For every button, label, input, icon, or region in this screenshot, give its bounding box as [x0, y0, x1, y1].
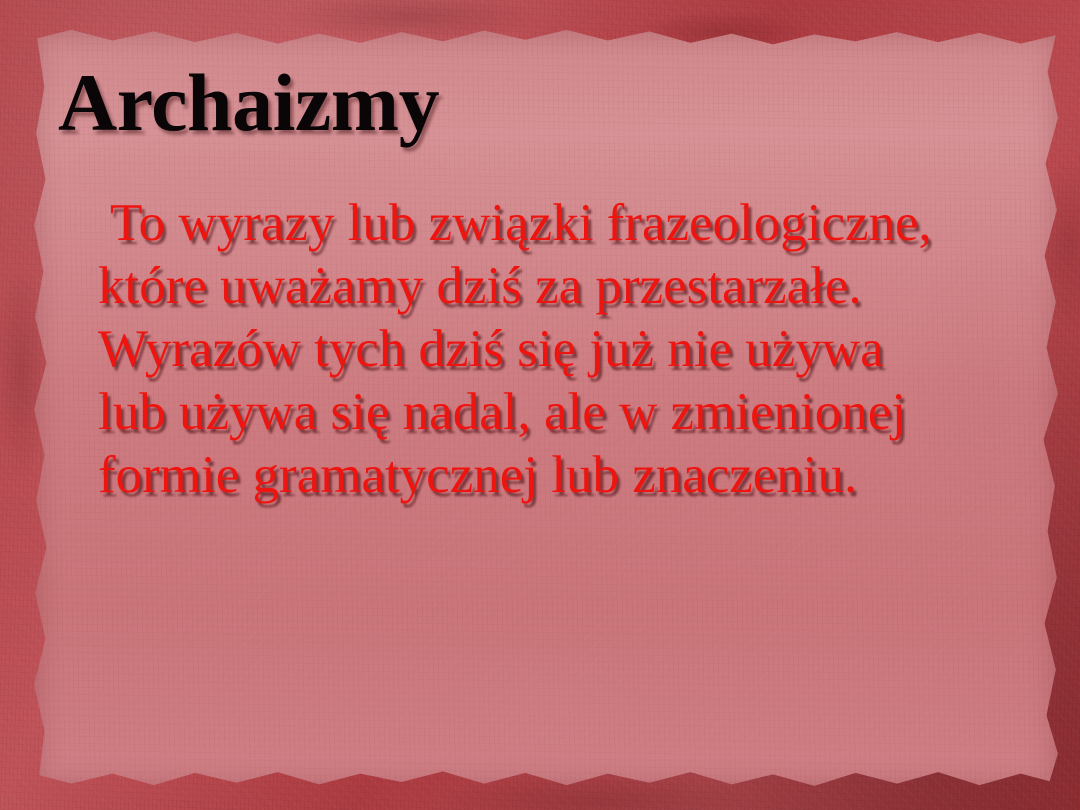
body-line-3: Wyrazów tych dziś się już nie używa [98, 318, 1028, 381]
body-line-4: lub używa się nadal, ale w zmienionej [98, 381, 1028, 444]
slide-content: Archaizmy To wyrazy lub związki frazeolo… [0, 0, 1080, 810]
slide-title: Archaizmy [58, 62, 439, 144]
body-line-1: To wyrazy lub związki frazeologiczne, [98, 192, 1028, 255]
body-line-5: formie gramatycznej lub znaczeniu. [98, 444, 1028, 507]
slide-body-text: To wyrazy lub związki frazeologiczne, kt… [98, 192, 1028, 507]
body-line-2: które uważamy dziś za przestarzałe. [98, 255, 1028, 318]
slide-canvas: Archaizmy To wyrazy lub związki frazeolo… [0, 0, 1080, 810]
